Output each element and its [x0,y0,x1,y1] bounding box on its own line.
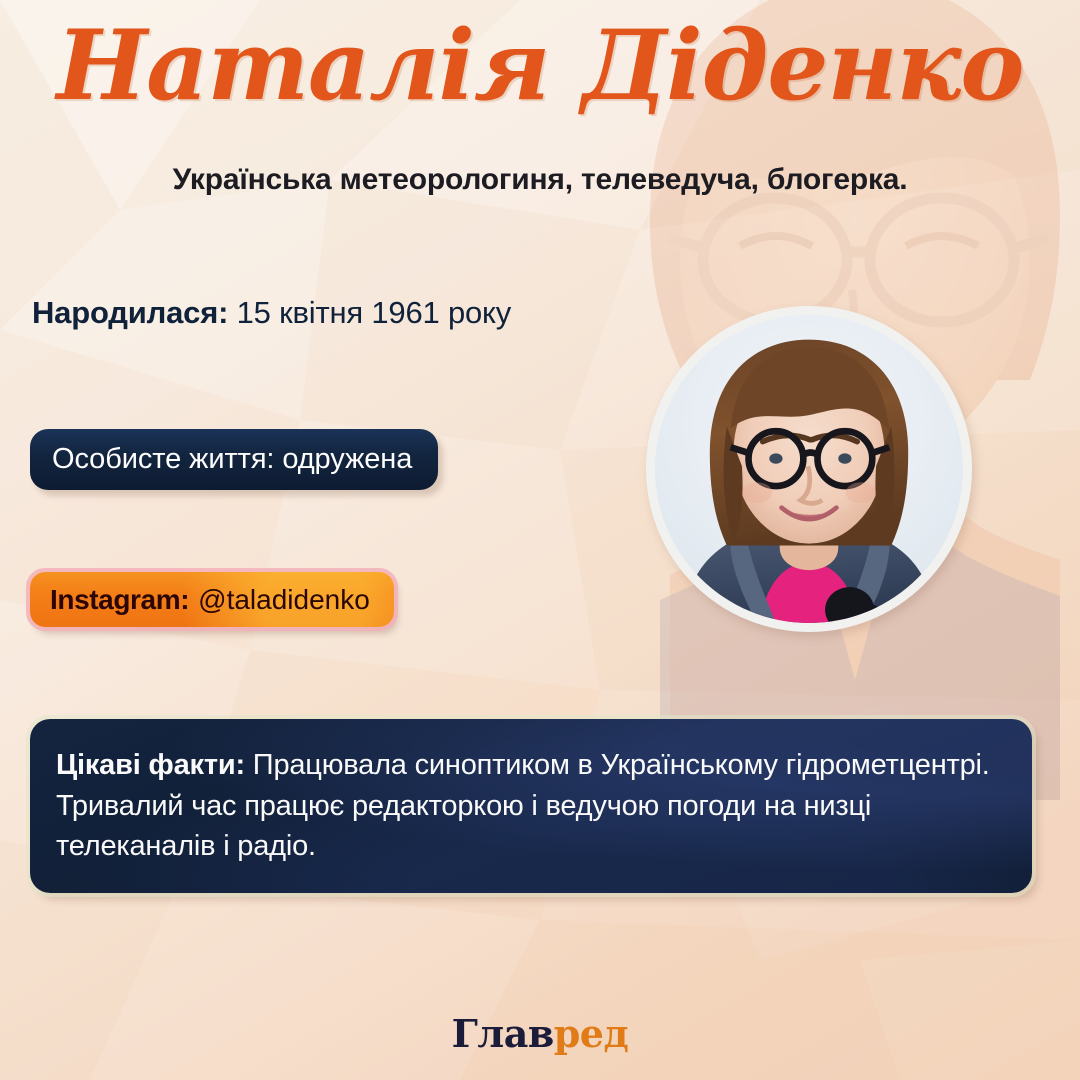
born-line: Народилася: 15 квітня 1961 року [32,295,511,331]
title-block: Наталія Діденко [0,14,1080,118]
born-label: Народилася: [32,295,228,330]
instagram-label: Instagram: [50,584,189,616]
instagram-handle[interactable]: @taladidenko [198,584,370,616]
brand-logo-part-a: Глав [452,1011,554,1056]
personal-life-pill: Особисте життя: одружена [30,429,438,490]
page-title: Наталія Діденко [57,14,1024,118]
infographic-card: Наталія Діденко Українська метеорологиня… [0,0,1080,1080]
brand-logo[interactable]: Главред [0,1011,1080,1056]
portrait-avatar [646,306,972,632]
page-subtitle: Українська метеорологиня, телеведуча, бл… [0,163,1080,197]
facts-label: Цікаві факти: [56,749,245,781]
born-value: 15 квітня 1961 року [237,295,511,330]
instagram-pill[interactable]: Instagram: @taladidenko [30,572,394,627]
interesting-facts-box: Цікаві факти: Працювала синоптиком в Укр… [30,719,1032,893]
brand-logo-part-b: ред [554,1011,629,1056]
personal-life-text: Особисте життя: одружена [52,443,412,476]
